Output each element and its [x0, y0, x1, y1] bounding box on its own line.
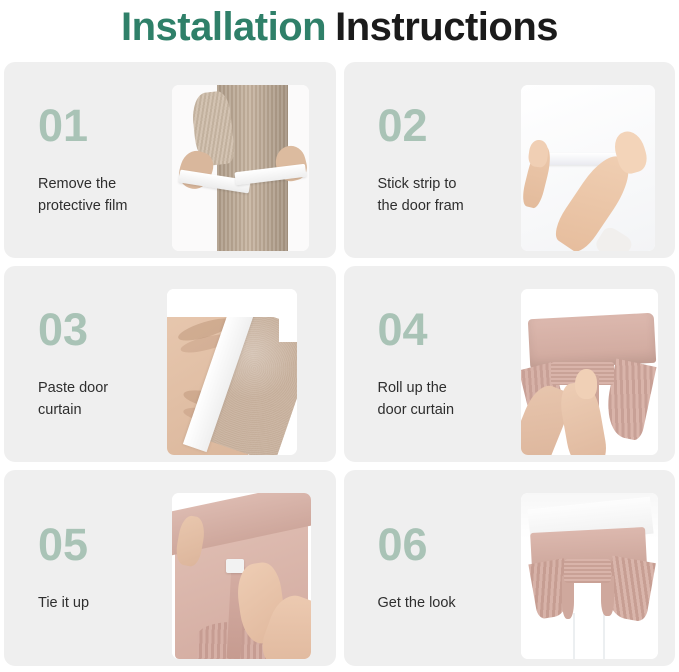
step-card-02: 02 Stick strip to the door fram [344, 62, 676, 258]
illustration-get-the-look [521, 493, 658, 659]
step-text-05: 05 Tie it up [38, 470, 178, 666]
step-number-03: 03 [38, 307, 178, 352]
photo-get-the-look [521, 493, 658, 659]
step-label-01: Remove the protective film [38, 174, 178, 216]
step-text-03: 03 Paste door curtain [38, 266, 178, 462]
step-card-03: 03 Paste door curtain [4, 266, 336, 462]
step-card-01: 01 Remove the protective film [4, 62, 336, 258]
step-text-01: 01 Remove the protective film [38, 62, 178, 258]
photo-remove-protective-film [172, 85, 309, 251]
step-number-04: 04 [378, 307, 518, 352]
step-label-05: Tie it up [38, 593, 178, 614]
step-text-02: 02 Stick strip to the door fram [378, 62, 518, 258]
illustration-remove-protective-film [172, 85, 309, 251]
step-card-04: 04 Roll up the door curtain [344, 266, 676, 462]
page-title-accent: Installation [121, 7, 326, 47]
photo-paste-door-curtain [167, 289, 297, 455]
illustration-roll-up-door-curtain [521, 289, 658, 455]
step-label-04: Roll up the door curtain [378, 378, 518, 420]
step-number-05: 05 [38, 522, 178, 567]
step-text-06: 06 Get the look [378, 470, 518, 666]
step-number-06: 06 [378, 522, 518, 567]
step-label-02: Stick strip to the door fram [378, 174, 518, 216]
step-label-06: Get the look [378, 593, 518, 614]
step-card-06: 06 Get the look [344, 470, 676, 666]
illustration-stick-strip-to-door-frame [521, 85, 655, 251]
photo-tie-it-up [172, 493, 311, 659]
step-number-01: 01 [38, 103, 178, 148]
step-number-02: 02 [378, 103, 518, 148]
photo-roll-up-door-curtain [521, 289, 658, 455]
step-card-05: 05 Tie it up [4, 470, 336, 666]
installation-instructions-page: Installation Instructions 01 Remove the … [0, 0, 679, 672]
steps-grid: 01 Remove the protective film 02 [4, 62, 675, 666]
page-title-main: Instructions [335, 7, 558, 47]
step-label-03: Paste door curtain [38, 378, 178, 420]
page-title: Installation Instructions [0, 0, 679, 54]
photo-stick-strip-to-door-frame [521, 85, 655, 251]
illustration-paste-door-curtain [167, 289, 297, 455]
step-text-04: 04 Roll up the door curtain [378, 266, 518, 462]
illustration-tie-it-up [172, 493, 311, 659]
